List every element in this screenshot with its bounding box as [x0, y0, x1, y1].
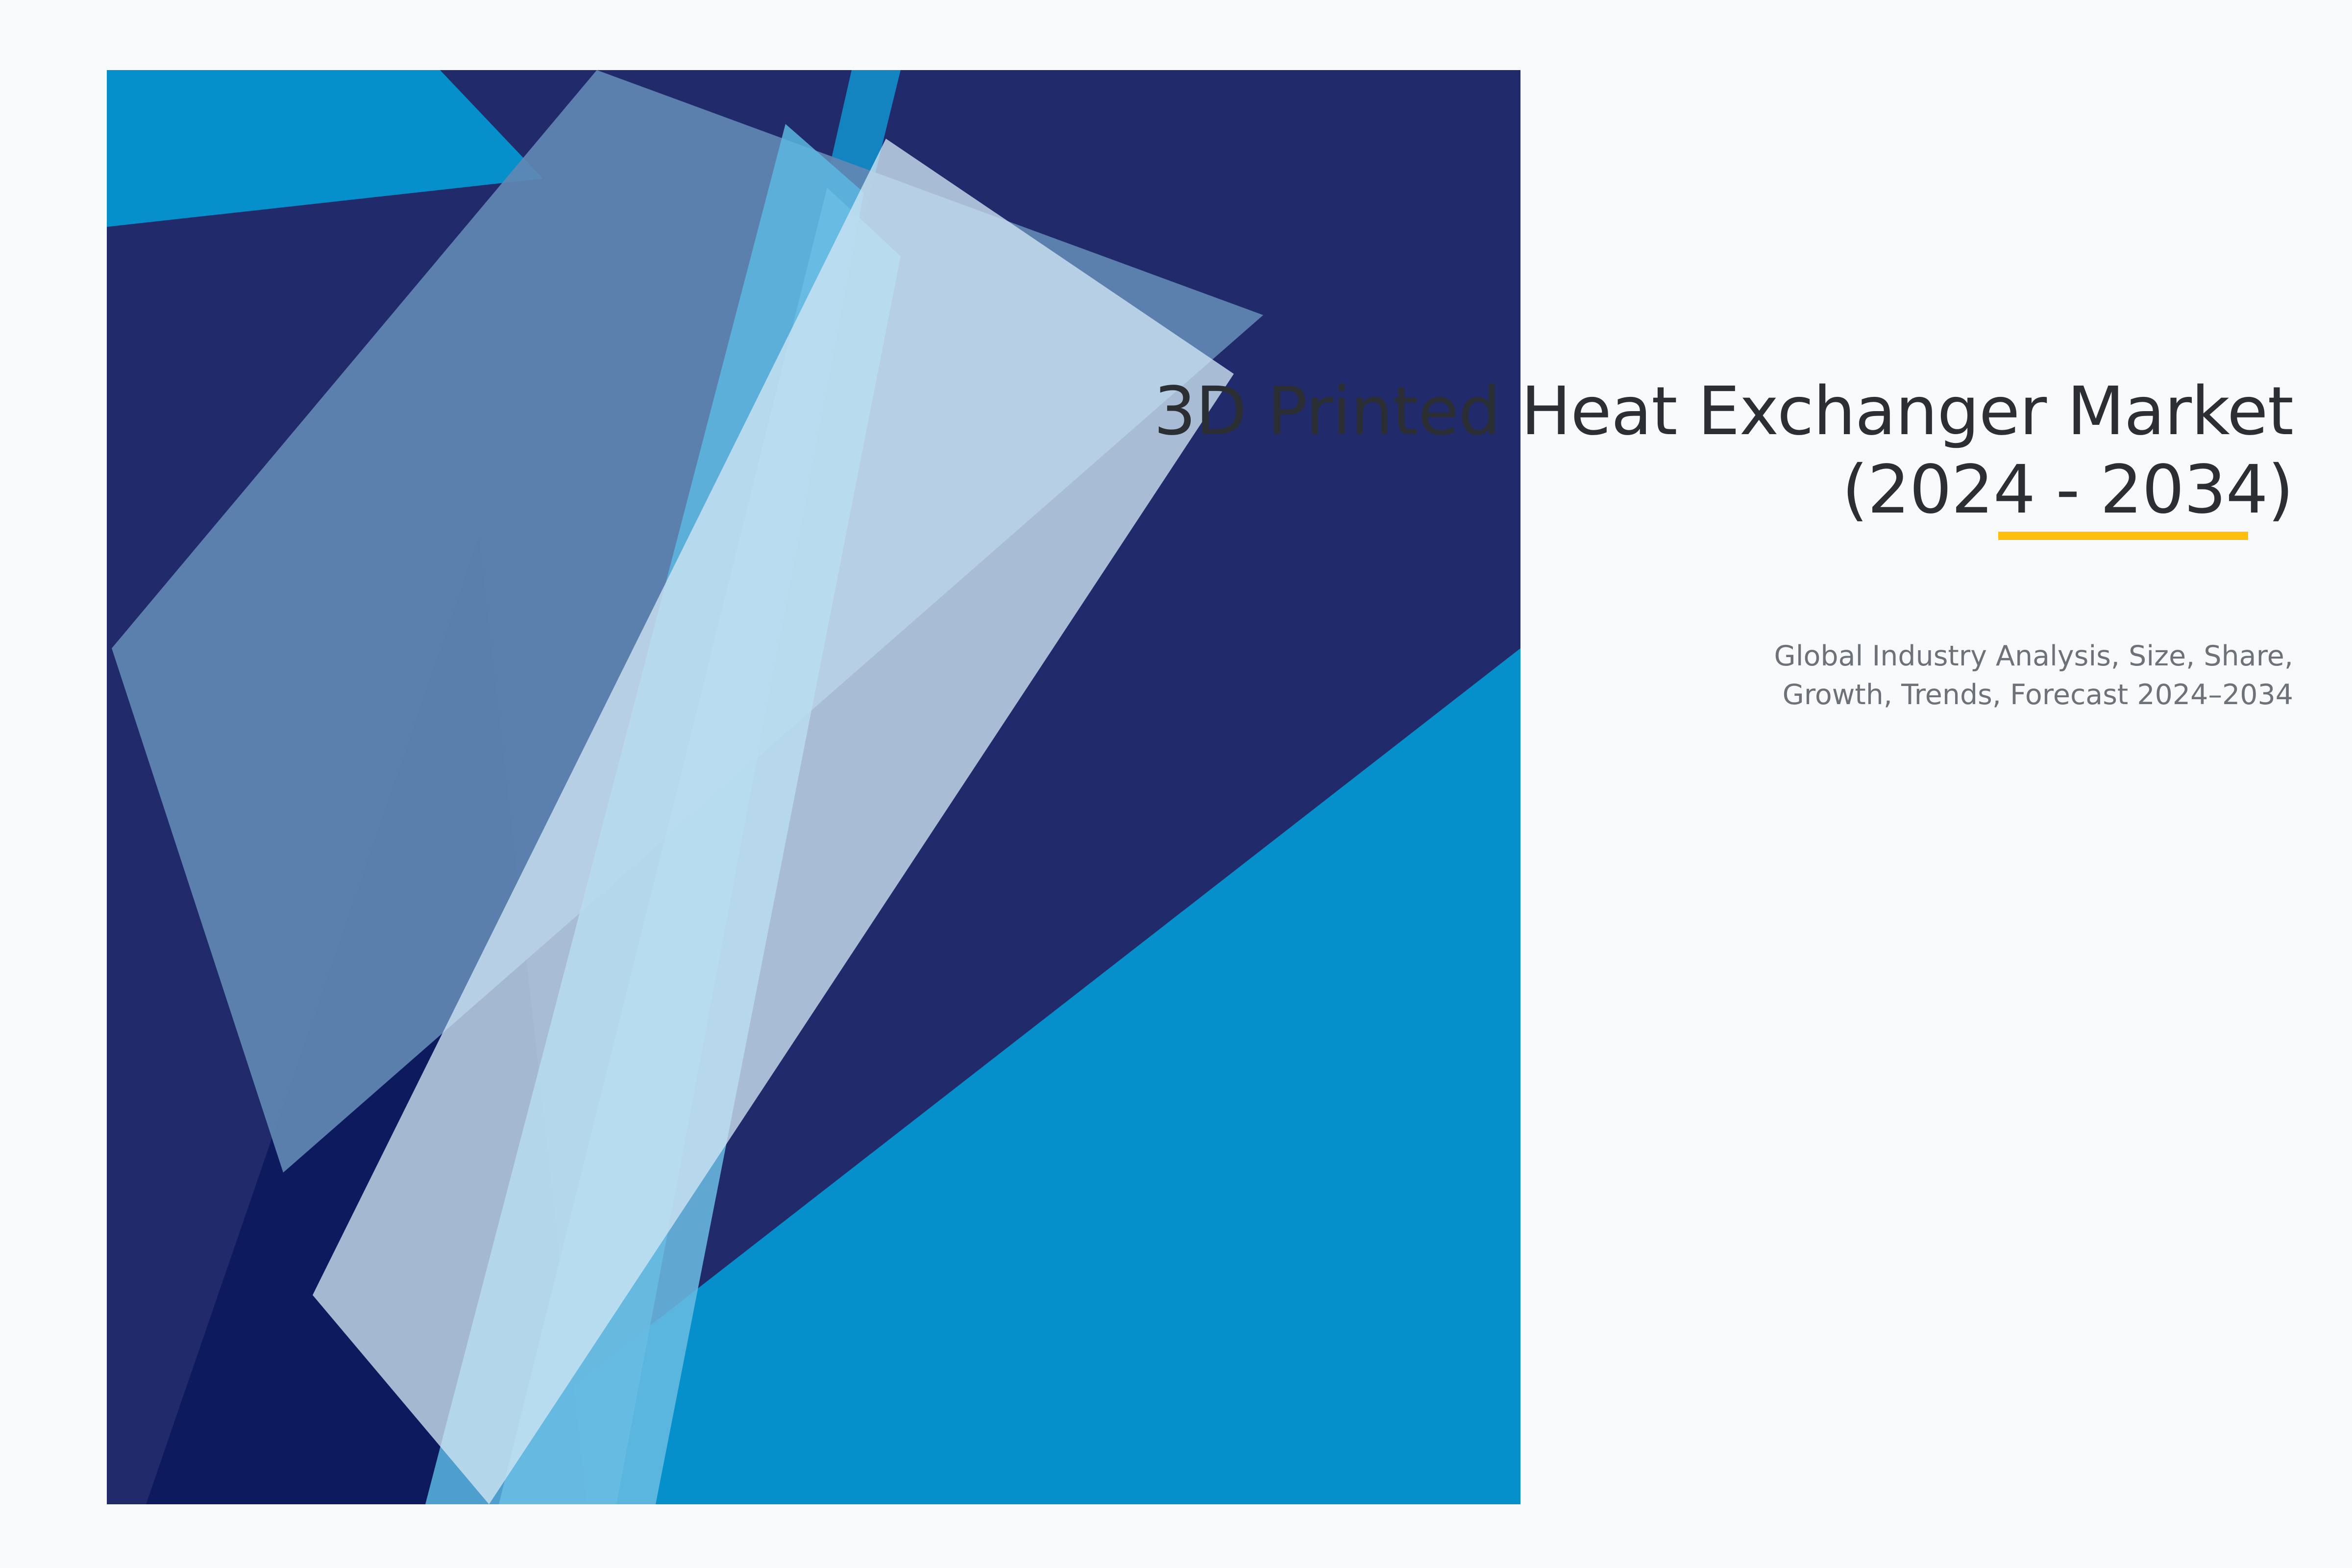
- cover-title-text: 3D Printed Heat Exchanger Market (2024 -…: [1127, 372, 2293, 530]
- report-cover-page: 3D Printed Heat Exchanger Market (2024 -…: [0, 0, 2352, 1568]
- page-subtitle: Global Industry Analysis, Size, Share, G…: [1509, 637, 2293, 714]
- title-accent-rule: [1998, 532, 2248, 540]
- artwork-svg: [107, 70, 1520, 1504]
- cover-subtitle-text: Global Industry Analysis, Size, Share, G…: [1509, 637, 2293, 714]
- abstract-polygon-cover-graphic: [107, 70, 1520, 1504]
- page-title: 3D Printed Heat Exchanger Market (2024 -…: [1127, 372, 2293, 530]
